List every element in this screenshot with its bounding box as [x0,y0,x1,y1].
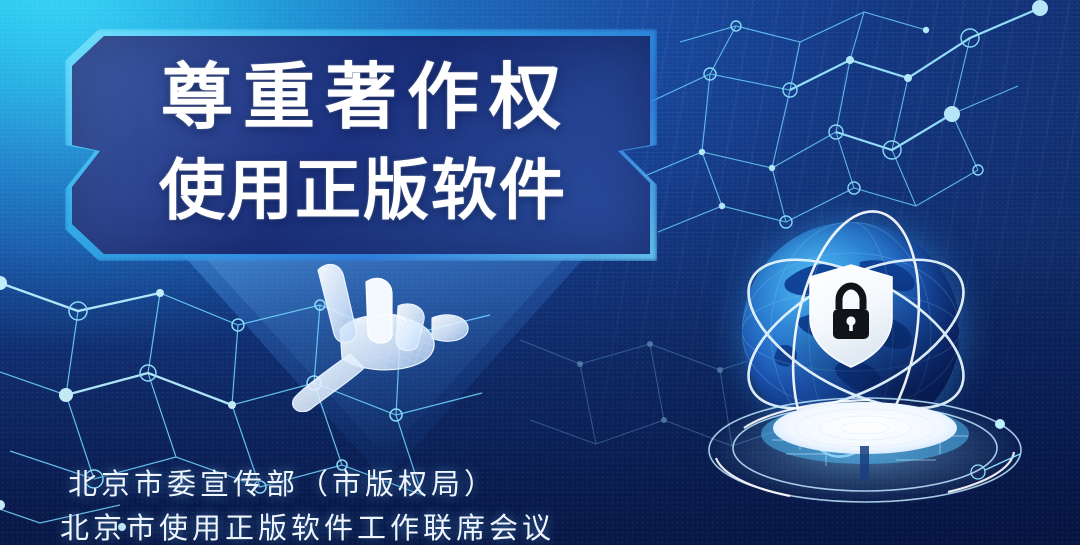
headline-text-group: 尊重著作权 使用正版软件 [72,50,650,234]
poster-canvas: 尊重著作权 使用正版软件 [0,0,1080,545]
organization-line-2: 北京市使用正版软件工作联席会议 [60,507,680,545]
shield-icon [808,264,894,368]
hologram-platform-icon [700,388,1030,518]
headline-banner: 尊重著作权 使用正版软件 [72,36,650,254]
organization-text-group: 北京市委宣传部（市版权局） 北京市使用正版软件工作联席会议 [60,463,680,545]
headline-line-2: 使用正版软件 [72,146,650,234]
globe-shield-composition [700,218,1030,518]
wireframe-hand-icon [282,252,492,412]
headline-line-1: 尊重著作权 [72,50,650,146]
organization-line-1: 北京市委宣传部（市版权局） [60,463,680,507]
